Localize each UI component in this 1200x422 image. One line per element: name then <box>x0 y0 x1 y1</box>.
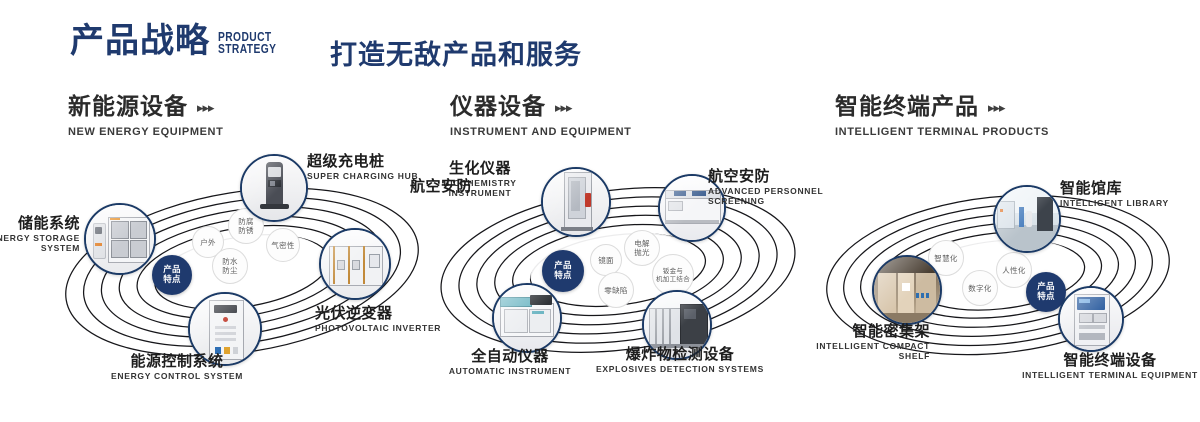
chevron-right-icon: ▸▸▸ <box>197 101 214 114</box>
feature-label: 镜面 <box>598 256 614 265</box>
label-advanced-personnel-screening: 航空安防 ADVANCED PERSONNELSCREENING <box>708 168 823 206</box>
node-label-cn: 储能系统 <box>0 215 80 231</box>
label-intelligent-compact-shelf: 智能密集架 INTELLIGENT COMPACTSHELF <box>735 323 930 361</box>
node-photovoltaic-inverter[interactable] <box>319 228 391 300</box>
chevron-right-icon: ▸▸▸ <box>555 101 572 114</box>
feature-bubble: 防水防尘 <box>212 248 248 284</box>
feature-label: 户外 <box>200 238 216 247</box>
node-label-cn: 智能馆库 <box>1060 180 1169 196</box>
feature-label: 气密性 <box>271 241 294 250</box>
node-label-en: SUPER CHARGING HUB <box>307 171 418 181</box>
core-line1: 产品 <box>554 261 572 271</box>
feature-label: 人性化 <box>1002 266 1025 275</box>
section-cn: 仪器设备 <box>450 96 546 119</box>
section-heading-new-energy: 新能源设备 ▸▸▸ NEW ENERGY EQUIPMENT <box>68 96 223 138</box>
feature-bubble: 零缺陷 <box>598 272 634 308</box>
node-label-en: ENERGY STORAGESYSTEM <box>0 233 80 253</box>
core-line2: 特点 <box>1037 292 1055 302</box>
node-label-cn: 智能终端设备 <box>1010 352 1200 368</box>
label-energy-storage-system: 储能系统 ENERGY STORAGESYSTEM <box>0 215 80 253</box>
feature-label: 防水防尘 <box>222 257 238 275</box>
feature-bubble: 电解抛光 <box>624 230 660 266</box>
label-intelligent-terminal-equipment: 智能终端设备 INTELLIGENT TERMINAL EQUIPMENT <box>1010 352 1200 380</box>
label-aviation-security: 航空安防 <box>410 178 472 194</box>
core-line1: 产品 <box>163 265 181 275</box>
label-intelligent-library: 智能馆库 INTELLIGENT LIBRARY <box>1060 180 1169 208</box>
node-label-en: EXPLOSIVES DETECTION SYSTEMS <box>575 364 785 374</box>
node-automatic-instrument[interactable] <box>492 283 562 353</box>
label-super-charging-hub: 超级充电桩 SUPER CHARGING HUB <box>307 153 418 181</box>
title-en-line2: STRATEGY <box>218 43 276 55</box>
core-line1: 产品 <box>1037 282 1055 292</box>
page-subtitle: 打造无敌产品和服务 <box>330 33 582 72</box>
title-en: PRODUCT STRATEGY <box>218 31 276 55</box>
node-label-en: INTELLIGENT TERMINAL EQUIPMENT <box>1010 370 1200 380</box>
feature-label: 钣金与机加工结合 <box>656 267 690 283</box>
node-intelligent-library[interactable] <box>993 185 1061 253</box>
node-energy-storage-system[interactable] <box>84 203 156 275</box>
node-intelligent-compact-shelf[interactable] <box>872 255 942 325</box>
core-line2: 特点 <box>163 275 181 285</box>
node-label-en: ENERGY CONTROL SYSTEM <box>82 371 272 381</box>
node-label-cn: 生化仪器 <box>415 160 545 176</box>
node-label-en: INTELLIGENT COMPACTSHELF <box>735 341 930 361</box>
node-label-en: INTELLIGENT LIBRARY <box>1060 198 1169 208</box>
feature-label: 数字化 <box>968 284 991 293</box>
section-heading-intelligent-terminal: 智能终端产品 ▸▸▸ INTELLIGENT TERMINAL PRODUCTS <box>835 96 1049 138</box>
core-bubble: 产品特点 <box>152 255 192 295</box>
section-heading-instrument: 仪器设备 ▸▸▸ INSTRUMENT AND EQUIPMENT <box>450 96 631 138</box>
section-en: INSTRUMENT AND EQUIPMENT <box>450 126 631 138</box>
label-energy-control-system: 能源控制系统 ENERGY CONTROL SYSTEM <box>82 353 272 381</box>
section-cn: 新能源设备 <box>68 96 188 119</box>
feature-bubble: 人性化 <box>996 252 1032 288</box>
core-line2: 特点 <box>554 271 572 281</box>
node-label-en: ADVANCED PERSONNELSCREENING <box>708 186 823 206</box>
node-biochemistry-instrument[interactable] <box>541 167 611 237</box>
node-intelligent-terminal-equipment[interactable] <box>1058 286 1124 352</box>
node-super-charging-hub[interactable] <box>240 154 308 222</box>
feature-label: 零缺陷 <box>604 286 627 295</box>
chevron-right-icon: ▸▸▸ <box>988 101 1005 114</box>
page-title: 产品战略 PRODUCT STRATEGY <box>70 24 289 58</box>
section-en: NEW ENERGY EQUIPMENT <box>68 126 223 138</box>
cluster-intelligent-terminal: 智慧化 数字化 人性化 产品特点 智能馆库 INTELLIGENT LIBRAR… <box>810 160 1200 395</box>
feature-bubble: 气密性 <box>266 228 300 262</box>
feature-bubble: 数字化 <box>962 270 998 306</box>
node-label-cn: 航空安防 <box>708 168 823 184</box>
poster-canvas: 产品战略 PRODUCT STRATEGY 打造无敌产品和服务 新能源设备 ▸▸… <box>0 0 1200 422</box>
section-en: INTELLIGENT TERMINAL PRODUCTS <box>835 126 1049 138</box>
node-label-cn: 航空安防 <box>410 178 472 194</box>
section-cn: 智能终端产品 <box>835 96 979 119</box>
node-label-cn: 超级充电桩 <box>307 153 418 169</box>
cluster-new-energy: 产品特点 户外 防腐防锈 防水防尘 气密性 储能系统 ENERGY STORAG… <box>40 150 440 390</box>
node-label-cn: 能源控制系统 <box>82 353 272 369</box>
title-cn: 产品战略 <box>70 24 210 58</box>
feature-label: 电解抛光 <box>634 239 650 257</box>
node-label-cn: 智能密集架 <box>735 323 930 339</box>
